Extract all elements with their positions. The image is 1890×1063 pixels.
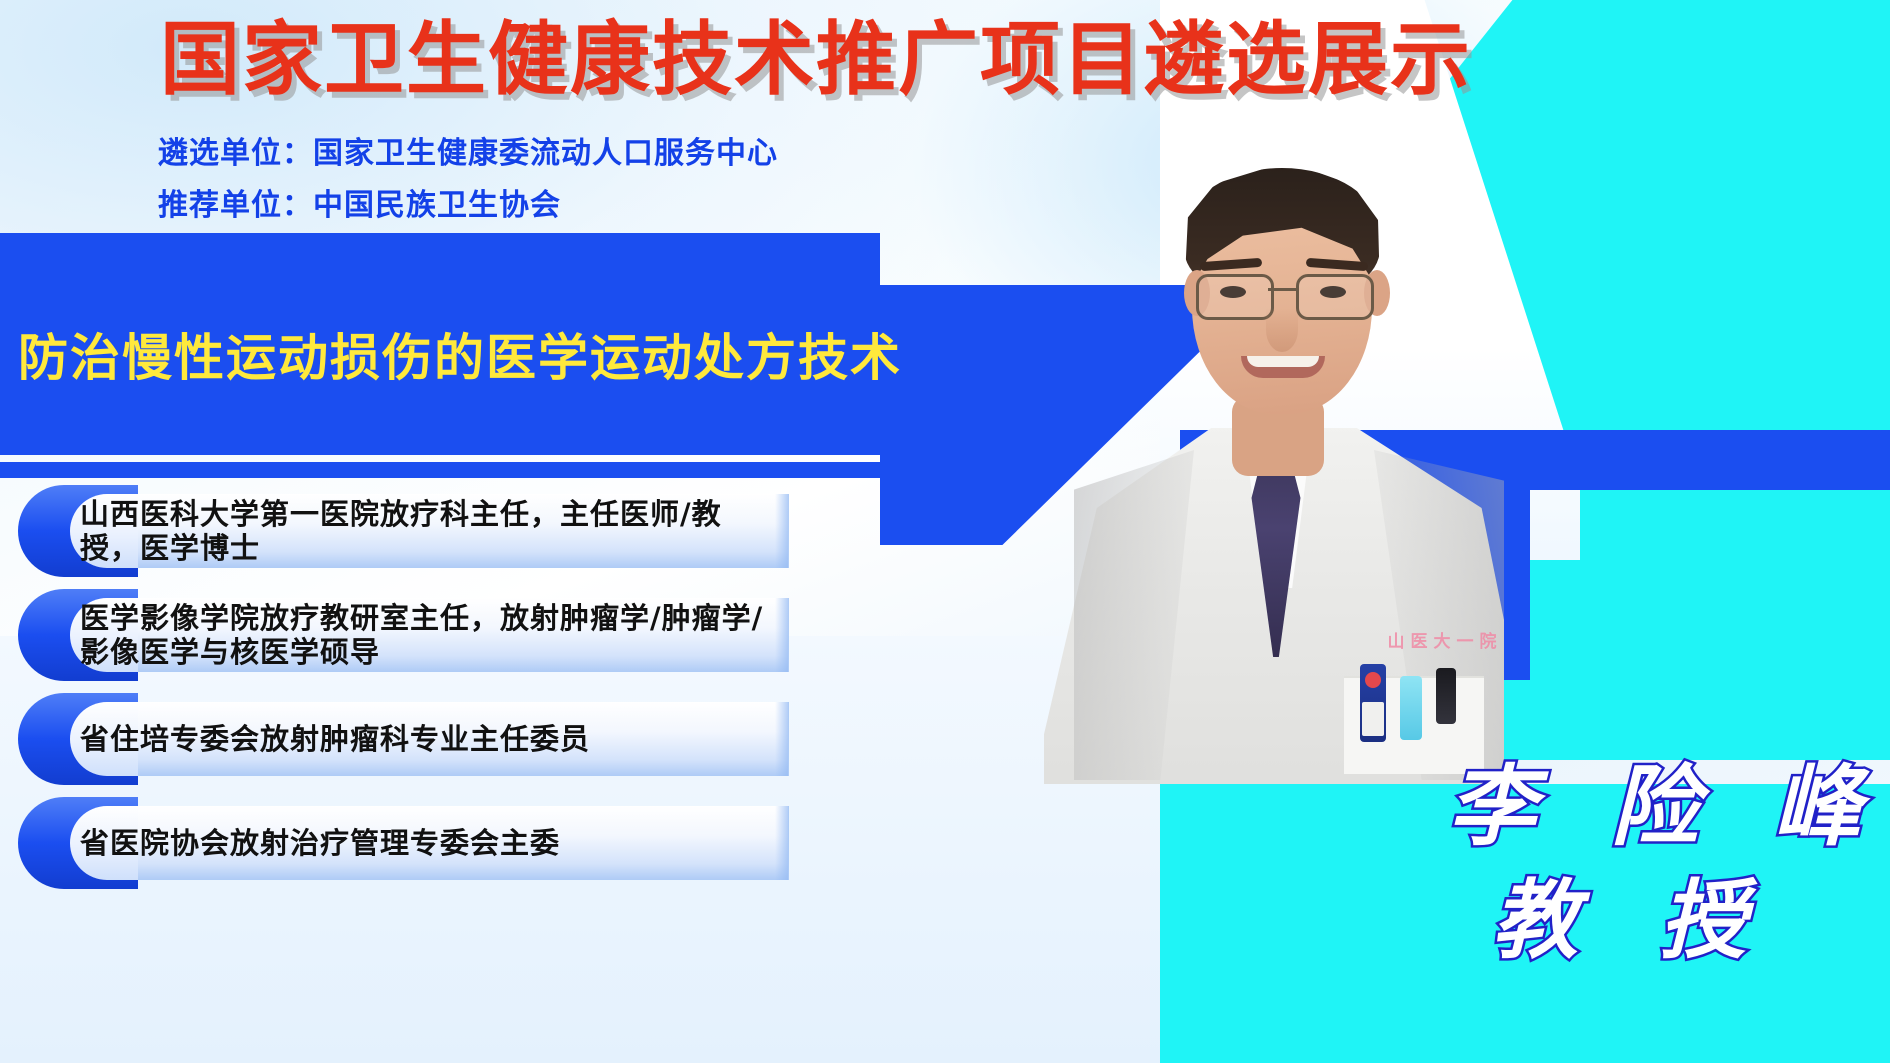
list-item: 省住培专委会放射肿瘤科专业主任委员 — [0, 693, 790, 785]
mouth — [1241, 356, 1325, 378]
pen-cyan — [1400, 676, 1422, 740]
pen-badge-dot — [1365, 672, 1381, 688]
nose — [1266, 308, 1298, 352]
credential-text: 医学影像学院放疗教研室主任，放射肿瘤学/肿瘤学/影像医学与核医学硕导 — [80, 589, 780, 681]
speaker-name: 李 险 峰 — [1448, 736, 1883, 863]
list-item: 医学影像学院放疗教研室主任，放射肿瘤学/肿瘤学/影像医学与核医学硕导 — [0, 589, 790, 681]
lens-left — [1196, 274, 1274, 320]
coat-embroidery-text: 山医大一院 — [1380, 620, 1504, 664]
speaker-name-block: 李 险 峰 教 授 — [1430, 700, 1890, 1063]
pen-label — [1362, 702, 1384, 736]
page-title: 国家卫生健康技术推广项目遴选展示 — [160, 14, 1450, 106]
list-item: 山西医科大学第一医院放疗科主任，主任医师/教授，医学博士 — [0, 485, 790, 577]
speaker-photo: 山医大一院 — [1044, 120, 1504, 784]
glasses-bridge — [1268, 288, 1298, 291]
teeth — [1247, 356, 1319, 367]
credential-text: 省住培专委会放射肿瘤科专业主任委员 — [80, 693, 780, 785]
headline-title: 防治慢性运动损伤的医学运动处方技术 — [18, 318, 878, 390]
headline-underbar — [0, 462, 880, 478]
subtitle-recommending-organization: 推荐单位：中国民族卫生协会 — [158, 180, 561, 224]
lens-right — [1296, 274, 1374, 320]
speaker-title: 教 授 — [1492, 850, 1772, 975]
credential-text: 山西医科大学第一医院放疗科主任，主任医师/教授，医学博士 — [80, 485, 780, 577]
credentials-list: 山西医科大学第一医院放疗科主任，主任医师/教授，医学博士 医学影像学院放疗教研室… — [0, 485, 800, 901]
list-item: 省医院协会放射治疗管理专委会主委 — [0, 797, 790, 889]
speaker-photo-inner: 山医大一院 — [1044, 120, 1504, 784]
poster-canvas: 山医大一院 国家卫生健康技术推广项目遴选展示 遴选单位：国家卫生健康委流动人口服… — [0, 0, 1890, 1063]
subtitle-selecting-organization: 遴选单位：国家卫生健康委流动人口服务中心 — [158, 128, 778, 172]
credential-text: 省医院协会放射治疗管理专委会主委 — [80, 797, 780, 889]
